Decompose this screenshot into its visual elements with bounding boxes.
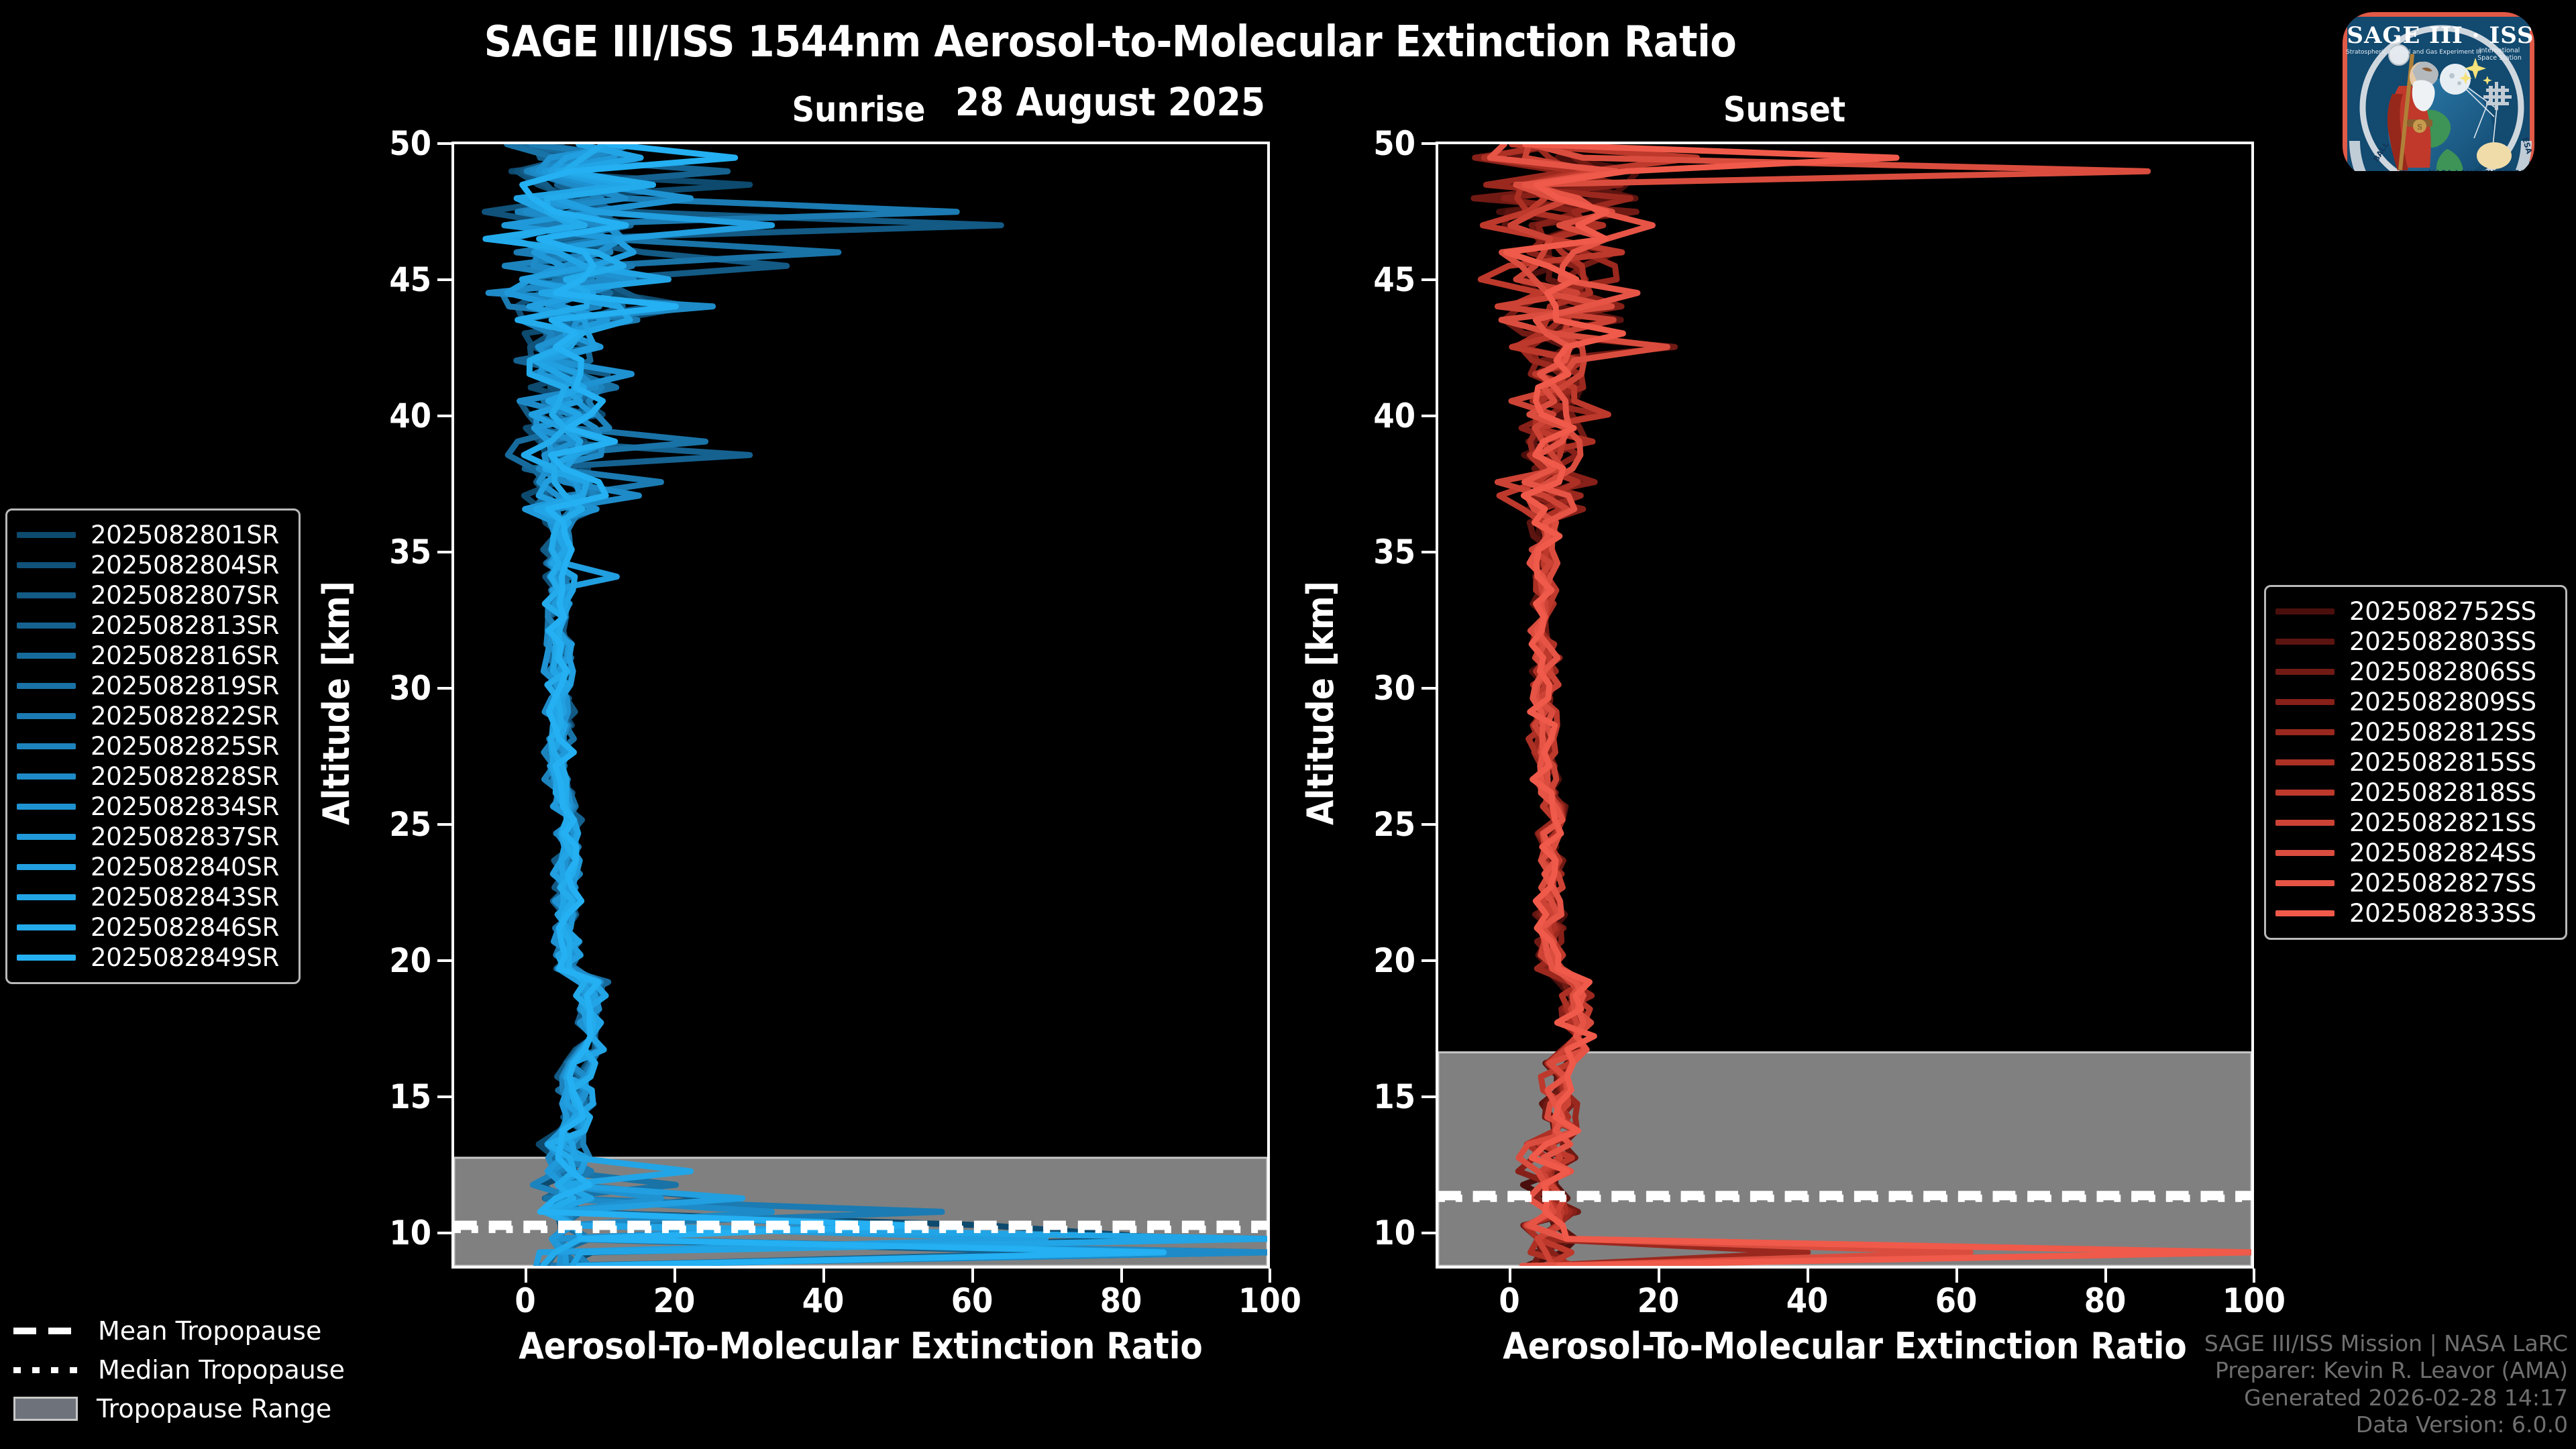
line-swatch-icon [17, 924, 76, 930]
sage-iii-iss-logo: S SAGE III · ISS Stratospheric Aerosol a… [2328, 7, 2549, 171]
line-swatch-icon [2275, 699, 2334, 705]
sunset-yaxis-label: Altitude [km] [1299, 581, 1342, 825]
line-swatch-icon [17, 592, 76, 598]
sunset-legend-label: 2025082821SS [2349, 808, 2536, 837]
ytick-sunrise-35: 35 [344, 533, 431, 572]
xtickmark-sunrise-100 [1269, 1269, 1271, 1283]
xtickmark-sunrise-40 [822, 1269, 825, 1283]
svg-text:Stratospheric Aerosol and Gas: Stratospheric Aerosol and Gas Experiment… [2346, 49, 2481, 56]
sunset-legend-label: 2025082827SS [2349, 869, 2536, 898]
sunrise-legend-item-2025082840SR[interactable]: 2025082840SR [17, 852, 286, 882]
sunset-legend-label: 2025082803SS [2349, 627, 2536, 656]
xtick-sunrise-80: 80 [1067, 1281, 1175, 1320]
sunset-legend-label: 2025082809SS [2349, 688, 2536, 716]
dashed-line-icon [13, 1322, 80, 1340]
sunrise-legend-item-2025082837SR[interactable]: 2025082837SR [17, 822, 286, 852]
profile-trace-2025082849SR [523, 144, 1164, 1266]
line-swatch-icon [2275, 910, 2334, 916]
sunrise-xaxis-label: Aerosol-To-Molecular Extinction Ratio [451, 1325, 1270, 1367]
legend-label-mean-tropopause: Mean Tropopause [98, 1316, 321, 1346]
sunrise-legend-label: 2025082807SR [91, 581, 279, 610]
line-swatch-icon [17, 804, 76, 810]
sunset-xaxis-label: Aerosol-To-Molecular Extinction Ratio [1436, 1325, 2254, 1367]
sunset-legend-label: 2025082824SS [2349, 839, 2536, 867]
sunset-plot-svg [1438, 144, 2251, 1266]
ytick-sunset-40: 40 [1328, 396, 1415, 435]
xtickmark-sunrise-20 [674, 1269, 676, 1283]
gray-patch-icon [13, 1397, 78, 1421]
line-swatch-icon [2275, 639, 2334, 645]
sunrise-legend-item-2025082843SR[interactable]: 2025082843SR [17, 882, 286, 912]
svg-text:S: S [2417, 123, 2422, 131]
ytick-sunrise-45: 45 [344, 260, 431, 299]
sunrise-legend-label: 2025082828SR [91, 762, 279, 791]
svg-text:SAGE III · ISS: SAGE III · ISS [2347, 22, 2534, 49]
xtickmark-sunset-80 [2104, 1269, 2107, 1283]
line-swatch-icon [2275, 729, 2334, 735]
sunrise-legend-label: 2025082801SR [91, 521, 279, 549]
xtickmark-sunrise-60 [971, 1269, 974, 1283]
ytickmark-sunrise-15 [437, 1095, 451, 1098]
sunrise-legend-label: 2025082846SR [91, 913, 279, 942]
ytickmark-sunrise-35 [437, 551, 451, 553]
ytickmark-sunrise-45 [437, 278, 451, 281]
sunset-legend-item-2025082806SS[interactable]: 2025082806SS [2275, 657, 2553, 687]
line-swatch-icon [17, 743, 76, 749]
xtick-sunset-80: 80 [2051, 1281, 2159, 1320]
ytickmark-sunset-10 [1421, 1232, 1436, 1234]
sunrise-yaxis-label: Altitude [km] [315, 581, 358, 825]
ytick-sunrise-40: 40 [344, 396, 431, 435]
sunrise-legend[interactable]: 2025082801SR2025082804SR2025082807SR2025… [5, 508, 301, 984]
mission-patch-svg: S SAGE III · ISS Stratospheric Aerosol a… [2328, 7, 2549, 171]
credit-line-version: Data Version: 6.0.0 [2204, 1411, 2568, 1438]
sunrise-legend-item-2025082804SR[interactable]: 2025082804SR [17, 550, 286, 580]
sunrise-legend-item-2025082825SR[interactable]: 2025082825SR [17, 731, 286, 761]
ytickmark-sunrise-30 [437, 687, 451, 690]
sunrise-legend-label: 2025082822SR [91, 702, 279, 731]
sunrise-legend-label: 2025082837SR [91, 822, 279, 851]
sunset-plot-area [1436, 142, 2254, 1269]
line-swatch-icon [17, 834, 76, 840]
sunrise-legend-item-2025082807SR[interactable]: 2025082807SR [17, 580, 286, 610]
ytickmark-sunset-40 [1421, 415, 1436, 417]
line-swatch-icon [2275, 759, 2334, 765]
sunset-legend-item-2025082752SS[interactable]: 2025082752SS [2275, 596, 2553, 627]
sunset-legend-item-2025082812SS[interactable]: 2025082812SS [2275, 717, 2553, 747]
sunrise-legend-label: 2025082813SR [91, 611, 279, 640]
sunrise-legend-item-2025082801SR[interactable]: 2025082801SR [17, 520, 286, 550]
xtickmark-sunset-40 [1807, 1269, 1809, 1283]
sunset-legend-item-2025082809SS[interactable]: 2025082809SS [2275, 687, 2553, 717]
xtick-sunset-60: 60 [1902, 1281, 2010, 1320]
ytickmark-sunset-45 [1421, 278, 1436, 281]
sunset-legend-label: 2025082806SS [2349, 657, 2536, 686]
sunset-panel-title: Sunset [1597, 90, 1972, 130]
line-swatch-icon [2275, 820, 2334, 826]
sunrise-legend-item-2025082828SR[interactable]: 2025082828SR [17, 761, 286, 792]
legend-item-median-tropopause: Median Tropopause [13, 1350, 389, 1389]
line-swatch-icon [2275, 790, 2334, 796]
sunset-legend-item-2025082833SS[interactable]: 2025082833SS [2275, 898, 2553, 928]
ytickmark-sunrise-20 [437, 959, 451, 962]
line-swatch-icon [17, 623, 76, 629]
sunrise-panel-title: Sunrise [671, 90, 1046, 130]
line-swatch-icon [2275, 850, 2334, 856]
xtickmark-sunrise-0 [525, 1269, 527, 1283]
xtick-sunrise-20: 20 [621, 1281, 728, 1320]
sunrise-legend-item-2025082816SR[interactable]: 2025082816SR [17, 641, 286, 671]
line-swatch-icon [2275, 608, 2334, 614]
xtick-sunset-20: 20 [1605, 1281, 1712, 1320]
sunset-legend-item-2025082803SS[interactable]: 2025082803SS [2275, 627, 2553, 657]
ytickmark-sunset-30 [1421, 687, 1436, 690]
ytickmark-sunset-50 [1421, 142, 1436, 145]
sunset-legend-label: 2025082833SS [2349, 899, 2536, 928]
line-swatch-icon [17, 562, 76, 568]
credits-block: SAGE III/ISS Mission | NASA LaRC Prepare… [2204, 1330, 2568, 1438]
page-title: SAGE III/ISS 1544nm Aerosol-to-Molecular… [0, 17, 2220, 67]
sunrise-legend-label: 2025082819SR [91, 672, 279, 700]
sunset-legend-item-2025082827SS[interactable]: 2025082827SS [2275, 868, 2553, 898]
line-swatch-icon [17, 773, 76, 780]
ytick-sunrise-20: 20 [344, 941, 431, 980]
sunset-legend-item-2025082824SS[interactable]: 2025082824SS [2275, 838, 2553, 868]
ytick-sunrise-10: 10 [344, 1214, 431, 1252]
ytick-sunset-20: 20 [1328, 941, 1415, 980]
line-swatch-icon [17, 653, 76, 659]
sunset-legend-item-2025082815SS[interactable]: 2025082815SS [2275, 747, 2553, 777]
sunrise-legend-label: 2025082843SR [91, 883, 279, 912]
sunrise-legend-item-2025082819SR[interactable]: 2025082819SR [17, 671, 286, 701]
svg-text:International: International [2479, 47, 2520, 54]
sunset-legend[interactable]: 2025082752SS2025082803SS2025082806SS2025… [2264, 585, 2567, 940]
sunrise-legend-label: 2025082849SR [91, 943, 279, 972]
svg-text:Space Station: Space Station [2477, 54, 2522, 62]
sunset-legend-label: 2025082815SS [2349, 748, 2536, 777]
ytick-sunset-35: 35 [1328, 533, 1415, 572]
xtickmark-sunset-20 [1658, 1269, 1660, 1283]
sunrise-legend-label: 2025082834SR [91, 792, 279, 821]
sunrise-legend-item-2025082849SR[interactable]: 2025082849SR [17, 943, 286, 973]
sunrise-legend-item-2025082813SR[interactable]: 2025082813SR [17, 610, 286, 641]
sunset-legend-item-2025082821SS[interactable]: 2025082821SS [2275, 808, 2553, 838]
sunset-legend-label: 2025082752SS [2349, 597, 2536, 626]
xtick-sunrise-60: 60 [918, 1281, 1026, 1320]
xtickmark-sunset-100 [2253, 1269, 2255, 1283]
ytick-sunset-45: 45 [1328, 260, 1415, 299]
xtick-sunrise-40: 40 [769, 1281, 877, 1320]
line-swatch-icon [2275, 880, 2334, 886]
xtickmark-sunset-60 [1955, 1269, 1958, 1283]
xtick-sunrise-100: 100 [1216, 1281, 1324, 1320]
ytickmark-sunset-35 [1421, 551, 1436, 553]
legend-label-tropopause-range: Tropopause Range [97, 1394, 331, 1424]
line-swatch-icon [17, 894, 76, 900]
sunset-legend-item-2025082818SS[interactable]: 2025082818SS [2275, 777, 2553, 808]
ytick-sunrise-15: 15 [344, 1077, 431, 1116]
ytick-sunrise-50: 50 [344, 124, 431, 163]
sunset-legend-label: 2025082812SS [2349, 718, 2536, 747]
dotted-line-icon [13, 1361, 80, 1379]
legend-item-tropopause-range: Tropopause Range [13, 1389, 389, 1428]
ytick-sunset-10: 10 [1328, 1214, 1415, 1252]
tropopause-legend: Mean Tropopause Median Tropopause Tropop… [13, 1311, 389, 1428]
xtick-sunset-0: 0 [1456, 1281, 1563, 1320]
line-swatch-icon [17, 532, 76, 538]
ytickmark-sunset-25 [1421, 823, 1436, 826]
sunrise-plot-area [451, 142, 1270, 1269]
ytickmark-sunset-15 [1421, 1095, 1436, 1098]
xtick-sunset-40: 40 [1754, 1281, 1861, 1320]
xtickmark-sunset-0 [1509, 1269, 1511, 1283]
sunrise-legend-item-2025082834SR[interactable]: 2025082834SR [17, 792, 286, 822]
xtick-sunset-100: 100 [2200, 1281, 2308, 1320]
ytick-sunset-50: 50 [1328, 124, 1415, 163]
ytick-sunset-15: 15 [1328, 1077, 1415, 1116]
credit-line-mission: SAGE III/ISS Mission | NASA LaRC [2204, 1330, 2568, 1357]
sunrise-legend-label: 2025082825SR [91, 732, 279, 761]
line-swatch-icon [17, 683, 76, 689]
sunrise-legend-label: 2025082816SR [91, 641, 279, 670]
legend-item-mean-tropopause: Mean Tropopause [13, 1311, 389, 1350]
sunrise-legend-item-2025082846SR[interactable]: 2025082846SR [17, 912, 286, 943]
ytickmark-sunrise-10 [437, 1232, 451, 1234]
ytickmark-sunset-20 [1421, 959, 1436, 962]
line-swatch-icon [17, 864, 76, 870]
line-swatch-icon [17, 955, 76, 961]
credit-line-generated: Generated 2026-02-28 14:17 [2204, 1385, 2568, 1411]
sunrise-legend-item-2025082822SR[interactable]: 2025082822SR [17, 701, 286, 731]
credit-line-preparer: Preparer: Kevin R. Leavor (AMA) [2204, 1357, 2568, 1384]
line-swatch-icon [2275, 669, 2334, 675]
line-swatch-icon [17, 713, 76, 719]
sunset-legend-label: 2025082818SS [2349, 778, 2536, 807]
ytickmark-sunrise-40 [437, 415, 451, 417]
legend-label-median-tropopause: Median Tropopause [98, 1355, 345, 1385]
sunrise-legend-label: 2025082840SR [91, 853, 279, 881]
svg-text:NASA LANGLEY RESEARCH CENTER: NASA LANGLEY RESEARCH CENTER [2428, 168, 2549, 171]
xtickmark-sunrise-80 [1120, 1269, 1123, 1283]
xtick-sunrise-0: 0 [472, 1281, 579, 1320]
sunrise-legend-label: 2025082804SR [91, 551, 279, 580]
sunrise-plot-svg [454, 144, 1267, 1266]
ytickmark-sunrise-50 [437, 142, 451, 145]
ytickmark-sunrise-25 [437, 823, 451, 826]
